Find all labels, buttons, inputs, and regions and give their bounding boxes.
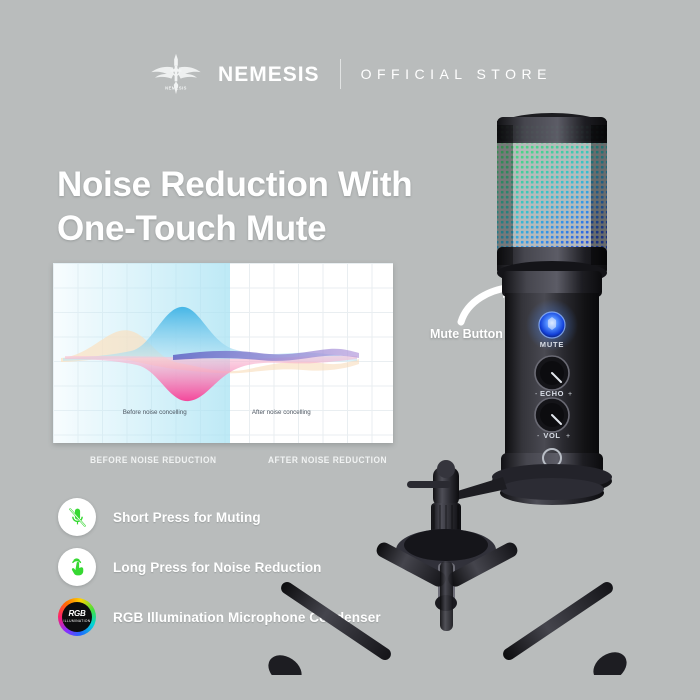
echo-label: ECHO: [540, 389, 564, 398]
product-marketing-banner: NEMESIS NEMESIS OFFICIAL STORE Noise Red…: [0, 0, 700, 700]
microphone-mount-collar: [492, 464, 612, 505]
volume-plus: +: [566, 433, 570, 440]
volume-label: VOL: [543, 431, 560, 440]
brand-name: NEMESIS: [218, 64, 320, 85]
brand-header: NEMESIS NEMESIS OFFICIAL STORE: [0, 52, 700, 96]
feature-label-short-press: Short Press for Muting: [113, 510, 261, 525]
label-before-noise-reduction: BEFORE NOISE REDUCTION: [90, 455, 217, 465]
hand-tap-icon: [66, 556, 89, 579]
microphone-rgb-head: [497, 113, 607, 285]
rgb-badge-bottom-text: ILLUMINATION: [63, 620, 90, 623]
tripod-foot-right: [588, 646, 632, 675]
rgb-badge-inner: RGB ILLUMINATION: [62, 602, 92, 632]
chart-caption-before: Before noise concelling: [123, 409, 187, 416]
echo-plus: +: [568, 391, 572, 398]
rgb-illumination-badge: RGB ILLUMINATION: [58, 598, 96, 636]
official-store-label: OFFICIAL STORE: [361, 67, 552, 81]
mute-label: MUTE: [540, 340, 564, 349]
microphone-product-image: MUTE - ECHO + - VOL +: [255, 95, 675, 675]
mic-muted-icon: [66, 506, 89, 529]
hand-tap-badge: [58, 548, 96, 586]
rgb-badge-top-text: RGB: [69, 610, 86, 618]
svg-text:NEMESIS: NEMESIS: [165, 86, 187, 91]
nemesis-winged-sword-logo: NEMESIS: [148, 52, 204, 96]
tripod-lock-lever[interactable]: [407, 481, 451, 488]
mic-muted-badge: [58, 498, 96, 536]
header-divider: [340, 59, 341, 89]
tripod-foot-left: [263, 649, 307, 675]
